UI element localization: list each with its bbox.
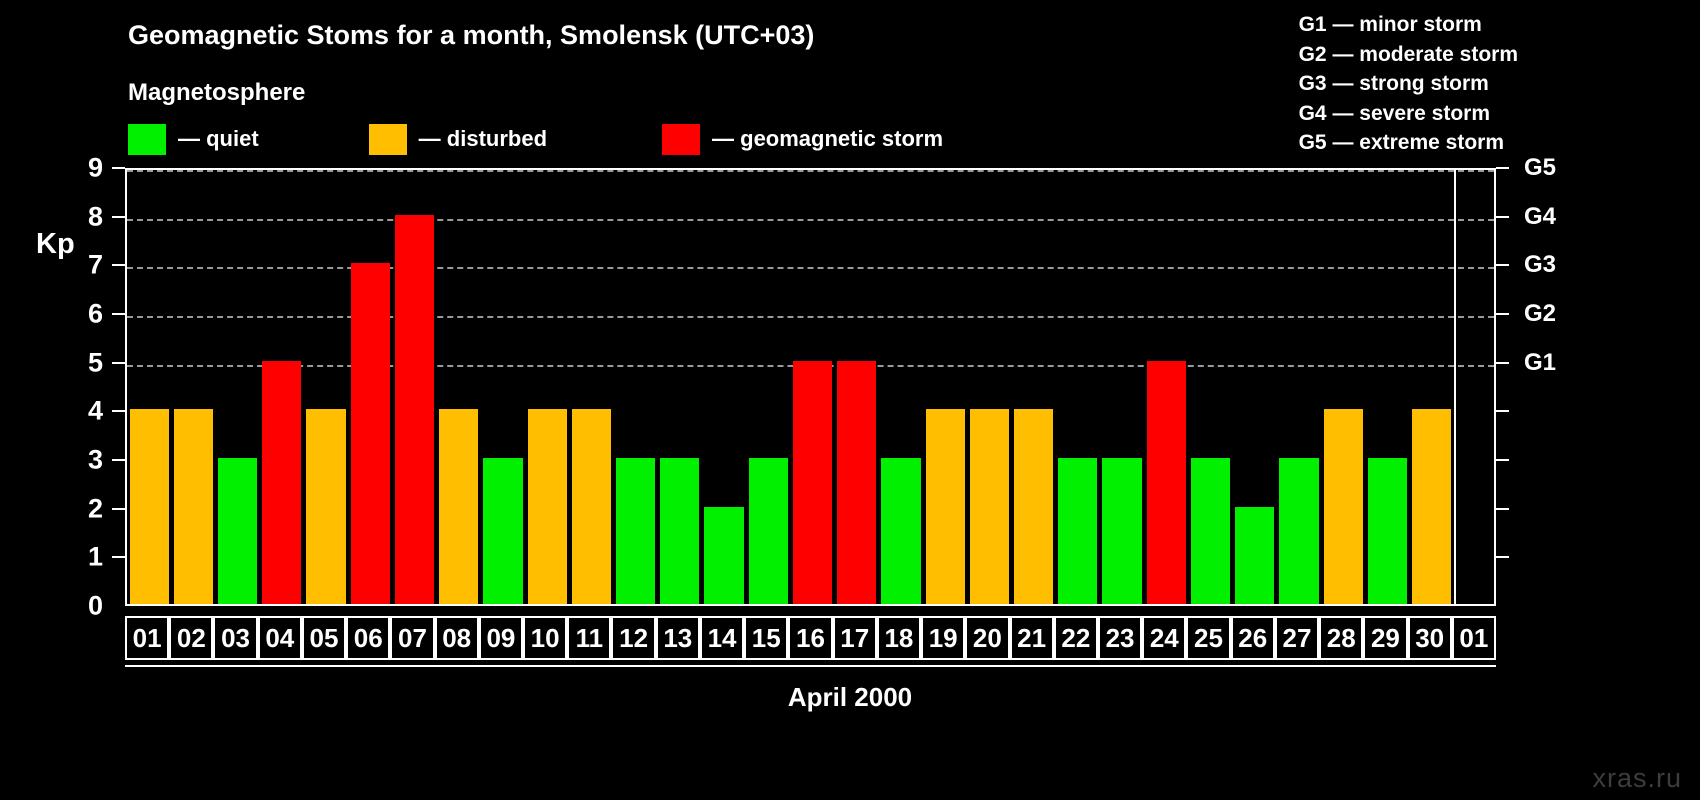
legend-item-storm: — geomagnetic storm (662, 122, 943, 156)
bar-day-24 (1147, 361, 1186, 604)
legend-label-storm: — geomagnetic storm (712, 126, 943, 152)
y-tick-label-0: 0 (88, 591, 103, 622)
y-tick-mark-7 (112, 264, 125, 266)
bar-day-10 (528, 409, 567, 604)
bar-day-25 (1191, 458, 1230, 604)
day-label-10: 11 (567, 616, 611, 660)
bar-day-17 (837, 361, 876, 604)
y-tick-mark-8 (112, 216, 125, 218)
day-label-27: 28 (1319, 616, 1363, 660)
g-scale-line-3: G3 — strong storm (1299, 69, 1518, 99)
day-label-25: 26 (1231, 616, 1275, 660)
bar-day-27 (1279, 458, 1318, 604)
day-label-23: 24 (1142, 616, 1186, 660)
y-tick-mark-9 (112, 167, 125, 169)
g-tick-label-G2: G2 (1524, 300, 1556, 328)
bar-day-29 (1368, 458, 1407, 604)
y-tick-label-7: 7 (88, 250, 103, 281)
day-label-16: 17 (833, 616, 877, 660)
legend-label-quiet: — quiet (178, 126, 259, 152)
y-tick-label-1: 1 (88, 542, 103, 573)
month-separator-line (1454, 170, 1456, 604)
day-label-6: 07 (390, 616, 434, 660)
bar-day-30 (1412, 409, 1451, 604)
legend: — quiet— disturbed— geomagnetic storm (128, 122, 943, 156)
bar-day-11 (572, 409, 611, 604)
day-label-17: 18 (877, 616, 921, 660)
bar-day-23 (1102, 458, 1141, 604)
day-label-28: 29 (1363, 616, 1407, 660)
g-scale-line-5: G5 — extreme storm (1299, 128, 1518, 158)
day-label-2: 03 (213, 616, 257, 660)
x-axis-title: April 2000 (0, 682, 1700, 713)
day-label-11: 12 (611, 616, 655, 660)
bar-day-19 (926, 409, 965, 604)
y-tick-label-2: 2 (88, 493, 103, 524)
bar-day-05 (306, 409, 345, 604)
g-tick-mark-minor-4 (1496, 410, 1509, 412)
day-label-26: 27 (1275, 616, 1319, 660)
legend-swatch-quiet-icon (128, 124, 166, 155)
bars (127, 170, 1494, 604)
day-label-19: 20 (965, 616, 1009, 660)
legend-heading: Magnetosphere (128, 79, 305, 107)
y-tick-mark-3 (112, 459, 125, 461)
legend-swatch-storm-icon (662, 124, 700, 155)
y-tick-label-3: 3 (88, 445, 103, 476)
g-tick-label-G3: G3 (1524, 251, 1556, 279)
bar-day-20 (970, 409, 1009, 604)
legend-item-quiet: — quiet (128, 122, 259, 156)
bar-day-03 (218, 458, 257, 604)
day-label-30: 01 (1452, 616, 1496, 660)
g-tick-mark-minor-3 (1496, 459, 1509, 461)
y-axis-right: G1G2G3G4G5 (1496, 168, 1696, 606)
g-tick-label-G5: G5 (1524, 154, 1556, 182)
y-tick-label-9: 9 (88, 153, 103, 184)
day-label-8: 09 (479, 616, 523, 660)
day-label-24: 25 (1186, 616, 1230, 660)
legend-item-disturbed: — disturbed (369, 122, 547, 156)
plot-area (125, 168, 1496, 606)
g-tick-mark-G3 (1496, 264, 1509, 266)
y-tick-label-8: 8 (88, 201, 103, 232)
y-tick-mark-1 (112, 556, 125, 558)
bar-day-06 (351, 263, 390, 604)
day-label-9: 10 (523, 616, 567, 660)
day-label-1: 02 (169, 616, 213, 660)
day-label-5: 06 (346, 616, 390, 660)
day-label-13: 14 (700, 616, 744, 660)
day-label-15: 16 (788, 616, 832, 660)
y-tick-mark-6 (112, 313, 125, 315)
g-scale-legend: G1 — minor stormG2 — moderate stormG3 — … (1299, 10, 1518, 158)
y-tick-label-4: 4 (88, 396, 103, 427)
bar-day-08 (439, 409, 478, 604)
watermark: xras.ru (1592, 763, 1682, 794)
g-scale-line-1: G1 — minor storm (1299, 10, 1518, 40)
bar-day-22 (1058, 458, 1097, 604)
g-tick-mark-G2 (1496, 313, 1509, 315)
y-tick-label-5: 5 (88, 347, 103, 378)
legend-label-disturbed: — disturbed (419, 126, 547, 152)
day-label-22: 23 (1098, 616, 1142, 660)
day-label-7: 08 (435, 616, 479, 660)
bar-day-28 (1324, 409, 1363, 604)
bar-day-01 (130, 409, 169, 604)
day-label-29: 30 (1408, 616, 1452, 660)
g-scale-line-2: G2 — moderate storm (1299, 40, 1518, 70)
g-tick-mark-G1 (1496, 362, 1509, 364)
bar-day-09 (483, 458, 522, 604)
g-tick-label-G1: G1 (1524, 349, 1556, 377)
bar-day-15 (749, 458, 788, 604)
bar-day-18 (881, 458, 920, 604)
day-label-20: 21 (1010, 616, 1054, 660)
g-tick-mark-G5 (1496, 167, 1509, 169)
x-axis-baseline (125, 665, 1496, 667)
day-label-21: 22 (1054, 616, 1098, 660)
g-tick-mark-minor-1 (1496, 556, 1509, 558)
day-label-12: 13 (656, 616, 700, 660)
g-tick-label-G4: G4 (1524, 203, 1556, 231)
g-tick-mark-G4 (1496, 216, 1509, 218)
page-title: Geomagnetic Stoms for a month, Smolensk … (128, 20, 814, 51)
g-tick-mark-minor-2 (1496, 508, 1509, 510)
bar-day-26 (1235, 507, 1274, 604)
y-tick-label-6: 6 (88, 299, 103, 330)
bar-day-16 (793, 361, 832, 604)
bar-day-07 (395, 215, 434, 604)
y-axis-title: Kp (36, 228, 75, 261)
y-tick-mark-5 (112, 362, 125, 364)
y-tick-mark-4 (112, 410, 125, 412)
bar-day-02 (174, 409, 213, 604)
plot-inner (127, 170, 1494, 604)
bar-day-12 (616, 458, 655, 604)
bar-day-04 (262, 361, 301, 604)
day-label-3: 04 (258, 616, 302, 660)
y-tick-mark-2 (112, 508, 125, 510)
legend-swatch-disturbed-icon (369, 124, 407, 155)
g-scale-line-4: G4 — severe storm (1299, 99, 1518, 129)
day-label-4: 05 (302, 616, 346, 660)
bar-day-14 (704, 507, 743, 604)
bar-day-21 (1014, 409, 1053, 604)
day-label-18: 19 (921, 616, 965, 660)
day-label-14: 15 (744, 616, 788, 660)
day-label-0: 01 (125, 616, 169, 660)
bar-day-13 (660, 458, 699, 604)
